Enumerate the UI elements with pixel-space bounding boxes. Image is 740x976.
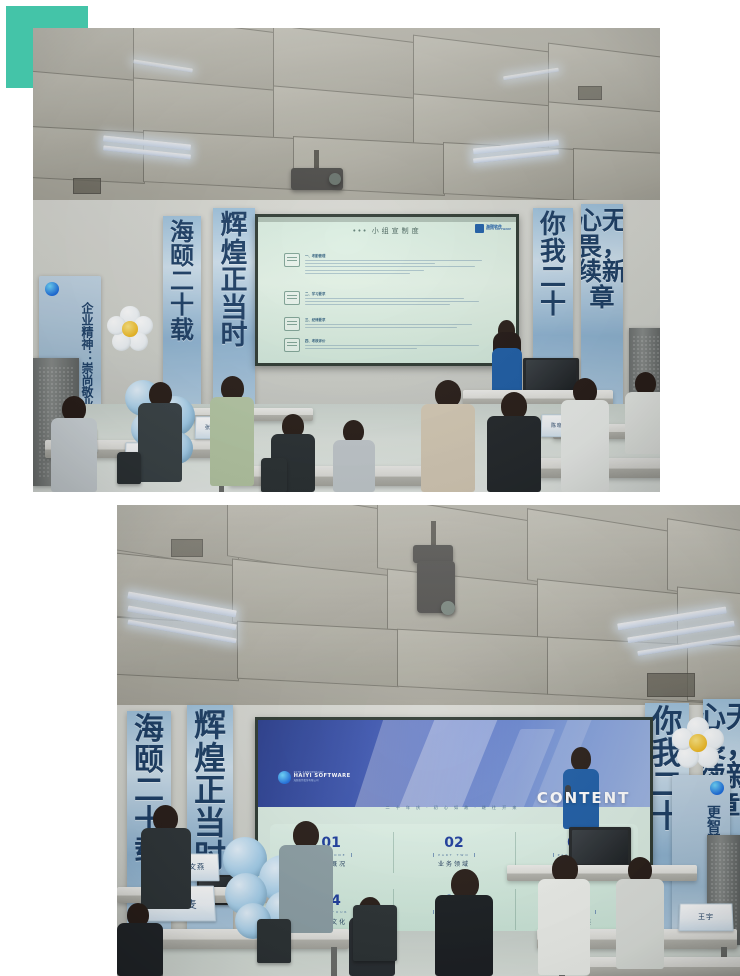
slide-rules: •••小组宣制度 海颐软件 HAIYI SOFTWARE xyxy=(258,217,516,363)
anniversary-logo-icon xyxy=(45,282,59,296)
ceiling-light xyxy=(127,619,236,643)
projector xyxy=(413,545,453,563)
ceiling-light xyxy=(473,150,559,164)
projector-lens xyxy=(329,173,341,185)
slide-logo: 20TH ANNIVERSARY HAIYI SOFTWARE 海颐软件股份有限… xyxy=(278,771,351,784)
audience-member xyxy=(277,821,333,933)
presenter-torso xyxy=(492,348,522,396)
ceiling-light xyxy=(637,635,740,656)
audience-member xyxy=(419,380,475,492)
company-logo-icon xyxy=(475,224,484,233)
audience-member xyxy=(537,855,591,975)
audience-desk xyxy=(229,466,429,486)
audience-desk xyxy=(507,865,697,881)
banner-text: 海颐二十载 xyxy=(163,220,201,342)
audience-member xyxy=(333,420,375,492)
slide-block: 二、学习要求 xyxy=(284,291,486,308)
audience-member xyxy=(209,376,255,486)
ceiling-light xyxy=(103,145,191,159)
projector-mount xyxy=(431,521,436,549)
chart-icon xyxy=(284,338,300,352)
chair xyxy=(261,458,287,492)
slide-block-heading: 四、考核评价 xyxy=(305,338,486,343)
slide-block: 三、纪律要求 xyxy=(284,317,486,331)
agenda-part: PART TWO xyxy=(433,853,474,857)
audience-member xyxy=(559,378,609,492)
audience-member xyxy=(615,857,665,969)
daisy-balloon-decoration xyxy=(107,306,153,352)
ceiling xyxy=(117,505,740,715)
audience-member xyxy=(435,869,493,976)
slide-logo-line2: HAIYI SOFTWARE xyxy=(486,229,511,232)
slide-block: 四、考核评价 xyxy=(284,338,486,352)
slide-block-heading: 二、学习要求 xyxy=(305,291,486,296)
projector-body xyxy=(417,561,455,613)
nameplate-text: 王宇 xyxy=(698,912,714,922)
ceiling-light xyxy=(127,592,237,618)
audience-member xyxy=(137,382,183,482)
daisy-balloon-decoration xyxy=(672,717,724,769)
chair xyxy=(353,905,397,961)
ceiling-light xyxy=(127,605,236,630)
audience-member xyxy=(485,392,541,492)
projection-screen: •••小组宣制度 海颐软件 HAIYI SOFTWARE xyxy=(258,217,516,363)
speaker-head xyxy=(571,747,591,771)
photo-1: 海颐二十载 辉煌正当时 你我二十 心无畏，续新章 企业精神：崇尚敬业 xyxy=(33,28,660,492)
chair xyxy=(117,452,141,484)
desk-nameplate: 王宇 xyxy=(678,903,733,931)
slide-title-dots: ••• xyxy=(352,227,367,235)
chair xyxy=(257,919,291,963)
ceiling-light xyxy=(617,606,727,630)
ceiling-vent xyxy=(171,539,203,557)
projector-lens xyxy=(441,601,455,615)
ceiling-light xyxy=(503,68,559,81)
slide-logo: 海颐软件 HAIYI SOFTWARE xyxy=(475,224,511,233)
collage-page: 海颐二十载 辉煌正当时 你我二十 心无畏，续新章 企业精神：崇尚敬业 xyxy=(0,0,740,976)
ceiling-light xyxy=(473,140,559,155)
ceiling-vent xyxy=(578,86,602,100)
ceiling-vent xyxy=(73,178,101,194)
banner-text: 心无畏，续新章 xyxy=(581,208,623,310)
ceiling-light xyxy=(103,135,191,150)
audience-member xyxy=(117,903,163,976)
banner-text: 辉煌正当时 xyxy=(213,212,255,350)
ceiling xyxy=(33,28,660,208)
audience-member xyxy=(625,372,660,454)
projection-screen-frame: •••小组宣制度 海颐软件 HAIYI SOFTWARE xyxy=(255,214,519,366)
audience-member xyxy=(49,396,97,492)
audience-member xyxy=(139,805,191,909)
agenda-number: 02 xyxy=(444,836,463,850)
slide-logo-cn: 海颐软件股份有限公司 xyxy=(294,780,351,782)
ceiling-light xyxy=(627,621,735,644)
banner-text: 你我二十 xyxy=(533,212,573,318)
slide-title-text: 小组宣制度 xyxy=(372,227,422,235)
list-icon xyxy=(284,291,300,305)
slide-block: 一、考勤管理 xyxy=(284,253,486,276)
photo-2: 海颐二十载 辉煌正当时 你我二十 心无畏，续新章 更智慧 xyxy=(117,505,740,976)
projector-mount xyxy=(314,150,319,172)
ceiling-light xyxy=(133,59,193,72)
slide-block-heading: 一、考勤管理 xyxy=(305,253,486,258)
slide-subline: 二十年庆·初心如故·继往开来 xyxy=(258,805,650,811)
agenda-label: 业务领域 xyxy=(438,859,470,868)
anniversary-logo-icon xyxy=(710,781,724,795)
document-icon xyxy=(284,253,300,267)
projector xyxy=(291,168,343,190)
board-icon xyxy=(284,317,300,331)
ceiling-vent xyxy=(647,673,695,697)
haiyi-logo-icon xyxy=(278,771,291,784)
slide-block-heading: 三、纪律要求 xyxy=(305,317,486,322)
slide-topbar xyxy=(258,217,516,222)
